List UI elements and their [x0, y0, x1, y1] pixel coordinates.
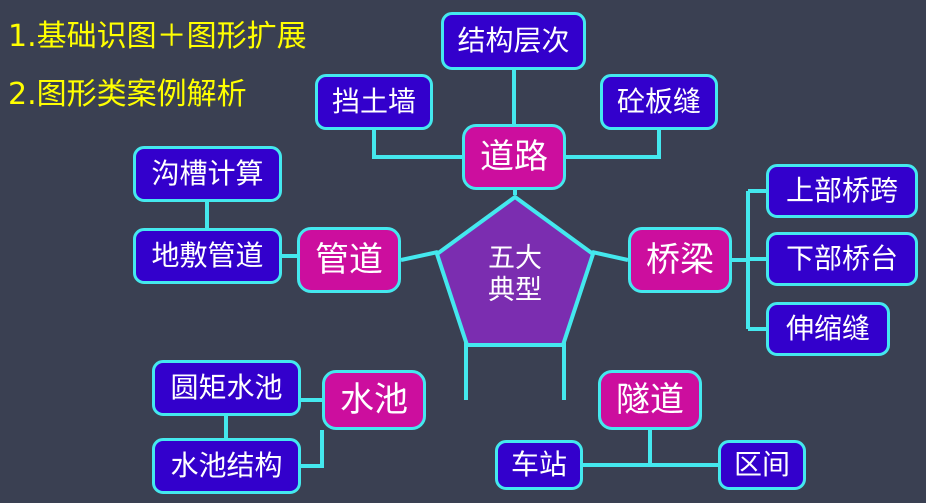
- sub-node-road-retaining-wall[interactable]: 挡土墙: [315, 74, 433, 130]
- main-node-tunnel[interactable]: 隧道: [598, 370, 702, 430]
- sub-node-pool-structure[interactable]: 水池结构: [152, 438, 301, 494]
- sub-node-bridge-lower-abutment[interactable]: 下部桥台: [766, 232, 918, 286]
- sub-node-road-concrete-slab-joint[interactable]: 砼板缝: [600, 74, 718, 130]
- link-road-concrete-slab-joint: [566, 130, 659, 157]
- sub-node-pipeline-trench-calculation[interactable]: 沟槽计算: [133, 146, 282, 202]
- main-node-road[interactable]: 道路: [462, 124, 566, 190]
- center-pentagon-shape: [437, 197, 593, 345]
- sub-node-tunnel-interval[interactable]: 区间: [718, 440, 806, 490]
- heading-line-2: 2.图形类案例解析: [8, 80, 247, 110]
- link-road-retaining-wall: [374, 130, 462, 157]
- link-center-bridge: [592, 252, 628, 260]
- main-node-bridge[interactable]: 桥梁: [628, 227, 732, 293]
- sub-node-bridge-upper-span[interactable]: 上部桥跨: [766, 164, 918, 218]
- sub-node-bridge-expansion-joint[interactable]: 伸缩缝: [766, 302, 890, 356]
- mindmap-canvas: 1.基础识图＋图形扩展 2.图形类案例解析 五大 典型 道路 结构层次 挡土墙 …: [0, 0, 926, 503]
- link-pool-structure-bus: [301, 430, 322, 466]
- link-center-pipeline: [401, 252, 438, 260]
- main-node-pool[interactable]: 水池: [322, 370, 426, 430]
- sub-node-road-structure-layers[interactable]: 结构层次: [441, 12, 586, 70]
- sub-node-pipeline-buried-pipe[interactable]: 地敷管道: [133, 228, 282, 284]
- heading-line-1: 1.基础识图＋图形扩展: [8, 22, 307, 52]
- main-node-pipeline[interactable]: 管道: [297, 227, 401, 293]
- sub-node-pool-round-rect-basin[interactable]: 圆矩水池: [152, 360, 301, 416]
- sub-node-tunnel-station[interactable]: 车站: [495, 440, 583, 490]
